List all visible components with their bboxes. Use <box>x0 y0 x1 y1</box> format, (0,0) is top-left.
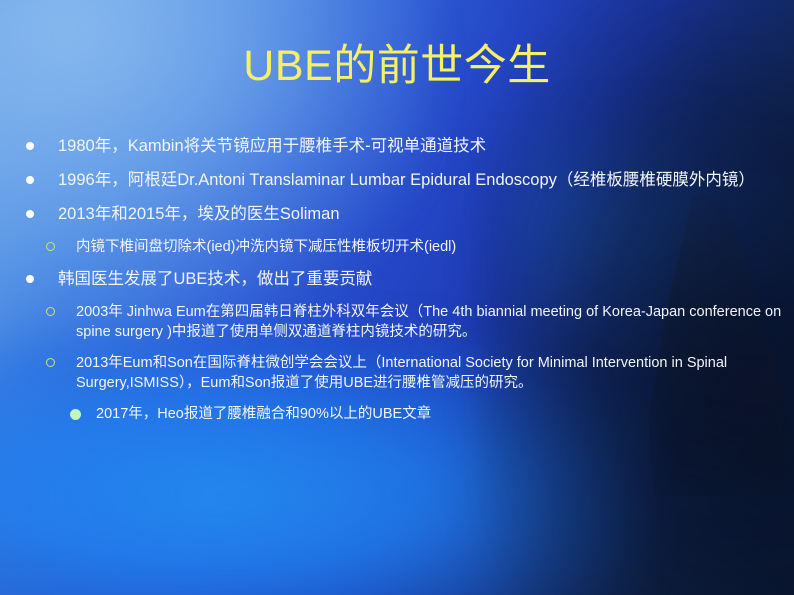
bullet-marker-filled-circle-icon <box>26 142 34 150</box>
bullet-text: 2003年 Jinhwa Eum在第四届韩日脊柱外科双年会议（The 4th b… <box>76 302 784 342</box>
bullet-marker-filled-circle-icon <box>26 210 34 218</box>
bullet-text: 1980年，Kambin将关节镜应用于腰椎手术-可视单通道技术 <box>58 135 784 157</box>
bullet-text: 内镜下椎间盘切除术(ied)冲洗内镜下减压性椎板切开术(iedl) <box>76 237 784 257</box>
bullet-item-3-sub-1: 内镜下椎间盘切除术(ied)冲洗内镜下减压性椎板切开术(iedl) <box>26 237 784 257</box>
bullet-text: 2013年和2015年，埃及的医生Soliman <box>58 203 784 225</box>
bullet-marker-hollow-circle-icon <box>46 358 55 367</box>
bullet-item-1: 1980年，Kambin将关节镜应用于腰椎手术-可视单通道技术 <box>26 135 784 157</box>
presentation-slide: UBE的前世今生 1980年，Kambin将关节镜应用于腰椎手术-可视单通道技术… <box>0 0 794 595</box>
bullet-marker-filled-circle-icon <box>26 176 34 184</box>
bullet-text: 2013年Eum和Son在国际脊柱微创学会会议上（International S… <box>76 353 784 393</box>
bullet-item-3: 2013年和2015年，埃及的医生Soliman <box>26 203 784 225</box>
slide-title: UBE的前世今生 <box>0 40 794 92</box>
bullet-item-4-sub-2-sub-1: 2017年，Heo报道了腰椎融合和90%以上的UBE文章 <box>26 404 784 424</box>
bullet-item-4-sub-1: 2003年 Jinhwa Eum在第四届韩日脊柱外科双年会议（The 4th b… <box>26 302 784 342</box>
bullet-marker-filled-circle-icon <box>26 275 34 283</box>
bullet-text: 2017年，Heo报道了腰椎融合和90%以上的UBE文章 <box>96 404 784 424</box>
bullet-marker-hollow-circle-icon <box>46 307 55 316</box>
bullet-marker-hollow-circle-icon <box>46 242 55 251</box>
bullet-text: 韩国医生发展了UBE技术，做出了重要贡献 <box>58 268 784 290</box>
bullet-text: 1996年，阿根廷Dr.Antoni Translaminar Lumbar E… <box>58 169 784 191</box>
bullet-marker-green-circle-icon <box>70 409 81 420</box>
slide-content: UBE的前世今生 1980年，Kambin将关节镜应用于腰椎手术-可视单通道技术… <box>0 0 794 595</box>
bullet-item-2: 1996年，阿根廷Dr.Antoni Translaminar Lumbar E… <box>26 169 784 191</box>
bullet-list: 1980年，Kambin将关节镜应用于腰椎手术-可视单通道技术 1996年，阿根… <box>26 135 784 432</box>
bullet-item-4: 韩国医生发展了UBE技术，做出了重要贡献 <box>26 268 784 290</box>
bullet-item-4-sub-2: 2013年Eum和Son在国际脊柱微创学会会议上（International S… <box>26 353 784 393</box>
